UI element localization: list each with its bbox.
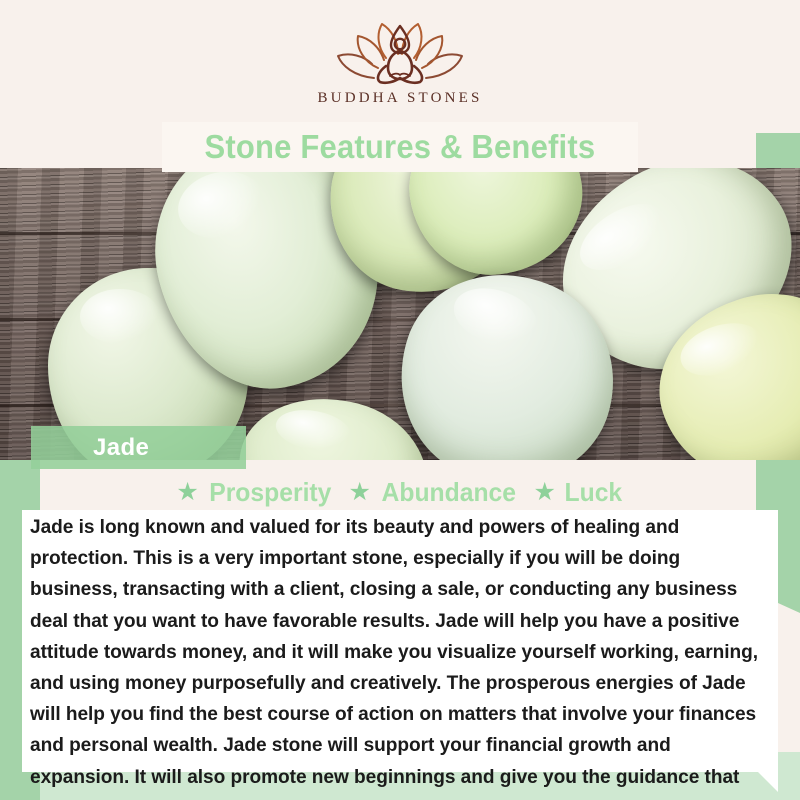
benefit-item: ★ Abundance — [348, 477, 519, 508]
benefits-row: ★ Prosperity ★ Abundance ★ Luck — [0, 477, 800, 508]
benefit-label: Abundance — [381, 477, 515, 508]
star-icon: ★ — [348, 480, 370, 505]
description-text: Jade is long known and valued for its be… — [30, 512, 763, 800]
benefit-item: ★ Prosperity — [176, 477, 334, 508]
page-title: Stone Features & Benefits — [205, 128, 596, 166]
brand-name: BUDDHA STONES — [317, 90, 482, 107]
benefit-item: ★ Luck — [533, 477, 623, 508]
benefit-label: Prosperity — [209, 477, 331, 508]
stone-info-poster: BUDDHA STONES Stone Features & Benefits … — [0, 0, 800, 800]
brand-header: BUDDHA STONES — [0, 0, 800, 122]
stone-photo — [0, 168, 800, 460]
stone-name-banner: Jade — [31, 426, 246, 469]
star-icon: ★ — [176, 480, 198, 505]
benefit-label: Luck — [564, 477, 622, 508]
star-icon: ★ — [533, 480, 555, 505]
description-card: Jade is long known and valued for its be… — [22, 510, 778, 772]
section-title-band: Stone Features & Benefits — [162, 122, 638, 172]
stone-name-label: Jade — [93, 434, 149, 462]
lotus-meditation-icon — [334, 22, 466, 86]
